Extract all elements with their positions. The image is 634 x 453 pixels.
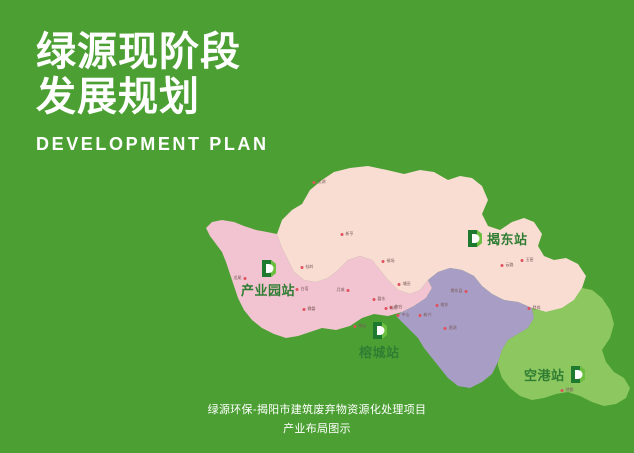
- town-dot-icon: [296, 288, 299, 291]
- town-marker: 渔湖: [444, 325, 457, 331]
- town-marker: 玉窖: [521, 257, 534, 263]
- town-marker: 白塔: [296, 286, 309, 292]
- caption-block: 绿源环保-揭阳市建筑废弃物资源化处理项目 产业布局图示: [0, 401, 634, 439]
- town-dot-icon: [398, 283, 401, 286]
- town-marker: 仙桥: [385, 305, 398, 311]
- lvyuan-logo-icon: [466, 228, 483, 249]
- station-label: 榕城站: [359, 342, 400, 361]
- town-dot-icon: [385, 307, 388, 310]
- town-dot-icon: [373, 298, 376, 301]
- poster-canvas: 绿源现阶段 发展规划 DEVELOPMENT PLAN 玉湖 新亨 锡场 龙尾 …: [0, 0, 634, 453]
- town-marker: 月城: [337, 287, 350, 293]
- town-marker: 锡场: [382, 258, 395, 264]
- town-marker: 中山: [397, 312, 410, 318]
- town-dot-icon: [465, 290, 468, 293]
- town-marker: 桂岭: [301, 264, 314, 270]
- town-dot-icon: [419, 314, 422, 317]
- town-dot-icon: [561, 389, 564, 392]
- station-marker-konggang[interactable]: 空港站: [524, 364, 586, 385]
- station-label: 揭东站: [487, 229, 528, 248]
- town-marker: 磐东: [373, 296, 386, 302]
- title-block: 绿源现阶段 发展规划 DEVELOPMENT PLAN: [36, 30, 336, 155]
- town-marker: 揭东县: [451, 288, 468, 294]
- station-marker-chanyeyuan[interactable]: 产业园站: [241, 258, 295, 299]
- station-label: 产业园站: [241, 280, 295, 299]
- caption-line-1: 绿源环保-揭阳市建筑废弃物资源化处理项目: [0, 401, 634, 420]
- town-dot-icon: [354, 325, 357, 328]
- town-marker: 玉湖: [313, 179, 326, 185]
- page-subtitle: DEVELOPMENT PLAN: [36, 134, 336, 155]
- lvyuan-logo-icon: [569, 364, 586, 385]
- town-dot-icon: [521, 259, 524, 262]
- town-dot-icon: [382, 260, 385, 263]
- lvyuan-logo-icon: [371, 320, 388, 341]
- town-marker: 地都: [561, 387, 574, 393]
- station-marker-jiedong[interactable]: 揭东站: [466, 228, 528, 249]
- town-dot-icon: [397, 314, 400, 317]
- town-dot-icon: [444, 327, 447, 330]
- town-marker: 新亨: [341, 231, 354, 237]
- town-marker: 霖磐: [303, 306, 316, 312]
- lvyuan-logo-icon: [260, 258, 277, 279]
- page-title-line-1: 绿源现阶段: [36, 30, 336, 75]
- town-marker: 新兴: [419, 312, 432, 318]
- page-title-line-2: 发展规划: [36, 75, 336, 120]
- town-dot-icon: [341, 233, 344, 236]
- town-dot-icon: [501, 264, 504, 267]
- town-dot-icon: [301, 266, 304, 269]
- station-marker-rongcheng[interactable]: 榕城站: [359, 320, 400, 361]
- town-dot-icon: [303, 308, 306, 311]
- caption-line-2: 产业布局图示: [0, 420, 634, 439]
- town-dot-icon: [436, 304, 439, 307]
- town-marker: 登岗: [528, 305, 541, 311]
- town-dot-icon: [313, 181, 316, 184]
- town-marker: 埔田: [398, 281, 411, 287]
- town-dot-icon: [528, 307, 531, 310]
- town-dot-icon: [347, 289, 350, 292]
- town-marker: 云路: [501, 262, 514, 268]
- town-marker: 榕东: [436, 302, 449, 308]
- station-label: 空港站: [524, 365, 565, 384]
